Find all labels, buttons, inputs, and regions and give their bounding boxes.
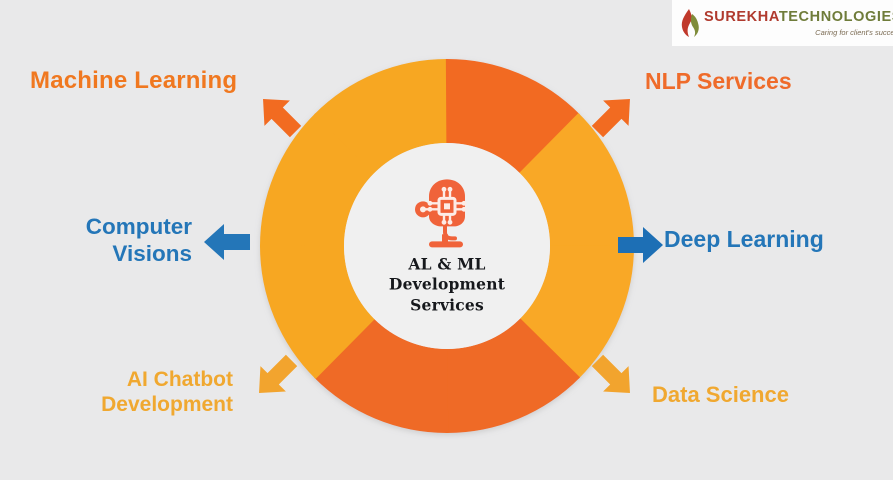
label-machine-learning: Machine Learning	[30, 67, 237, 95]
donut-center-circle	[344, 143, 550, 349]
label-ai-chatbot-development: AI Chatbot Development	[63, 368, 233, 418]
donut-segment-machine-learning-upper	[344, 101, 448, 144]
label-computer-visions: Computer Visions	[72, 214, 192, 267]
donut-segment-machine-learning	[302, 143, 345, 247]
brand-title: SUREKHATECHNOLOGIES	[704, 10, 893, 25]
donut-segment-nlp-services	[446, 101, 550, 144]
donut-segment-computer-visions	[344, 348, 448, 391]
donut-svg	[253, 52, 641, 440]
donut-segment-computer-visions-upper	[302, 245, 345, 349]
brand-text: SUREKHATECHNOLOGIES Caring for client's …	[704, 10, 893, 36]
label-nlp-services: NLP Services	[645, 68, 792, 95]
services-donut-chart: AL & ML Development Services	[253, 52, 641, 440]
brand-logo-bar: SUREKHATECHNOLOGIES Caring for client's …	[672, 0, 893, 46]
flame-icon	[678, 8, 700, 38]
arrow-left-icon	[200, 220, 254, 269]
brand-name-first: SUREKHA	[704, 9, 779, 25]
label-data-science: Data Science	[652, 382, 789, 408]
label-deep-learning: Deep Learning	[664, 226, 824, 253]
donut-segment-deep-learning	[549, 143, 592, 247]
brand-tagline: Caring for client's success	[704, 29, 893, 37]
donut-segment-data-science	[549, 245, 592, 349]
donut-segment-ai-chatbot-development	[446, 348, 550, 391]
brand-name-second: TECHNOLOGIES	[779, 9, 893, 25]
